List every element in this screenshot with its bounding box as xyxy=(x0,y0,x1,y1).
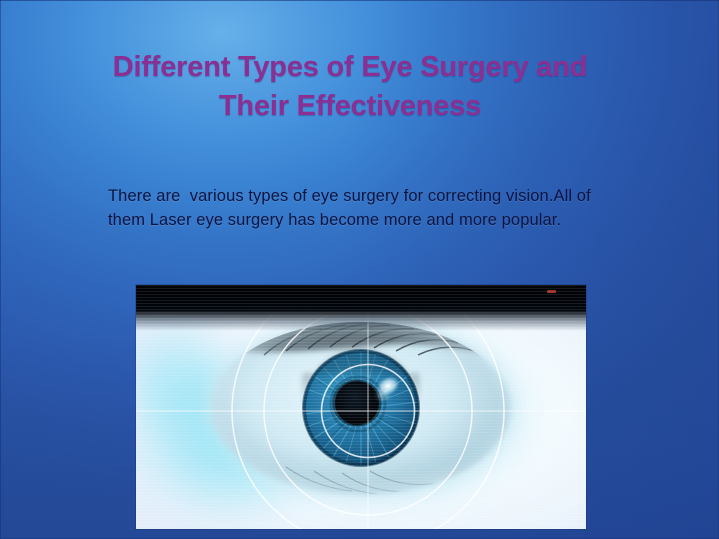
eye-illustration xyxy=(136,285,586,529)
eye-surgery-image xyxy=(136,285,586,529)
slide-title-line-1: Different Types of Eye Surgery and xyxy=(60,48,640,87)
slide-title: Different Types of Eye Surgery and Their… xyxy=(60,48,640,125)
slide-title-line-2: Their Effectiveness xyxy=(60,87,640,126)
presentation-slide: Different Types of Eye Surgery and Their… xyxy=(0,0,719,539)
slide-body-text: There are various types of eye surgery f… xyxy=(108,184,608,232)
